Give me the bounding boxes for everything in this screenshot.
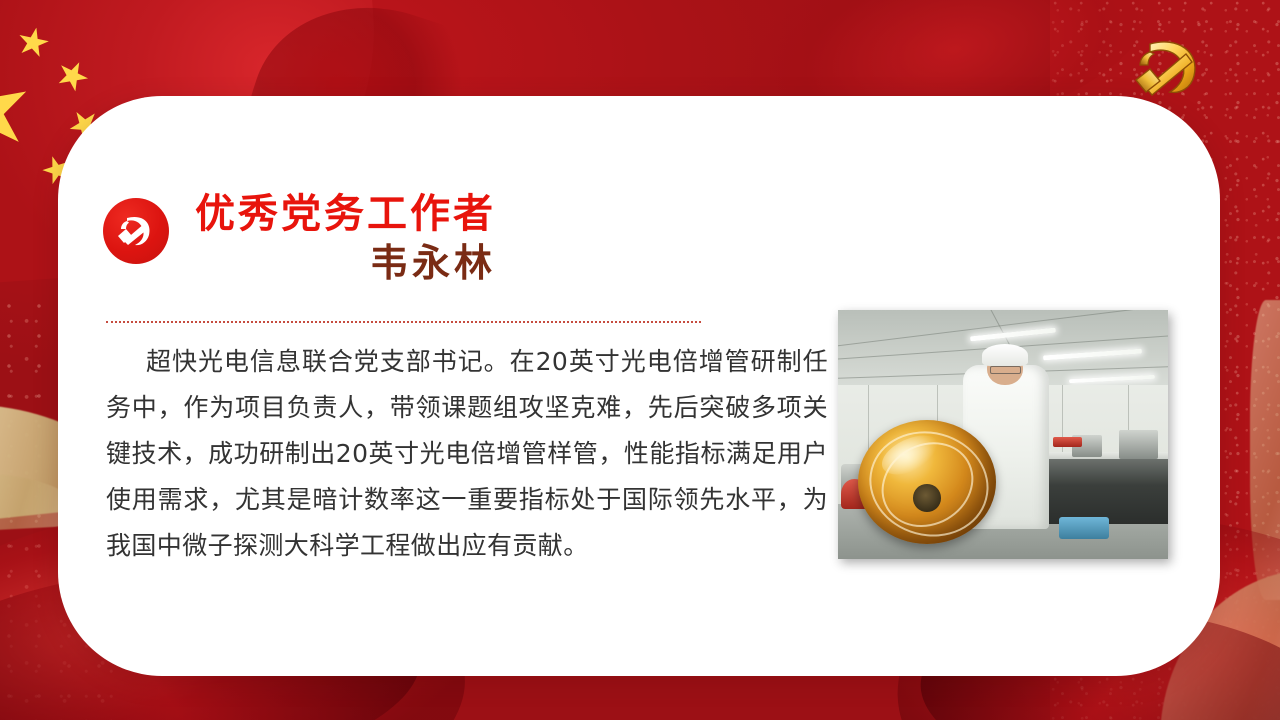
page-title: 优秀党务工作者	[195, 192, 496, 237]
gold-ribbon-right-2-icon	[1250, 300, 1280, 600]
photo-person-cap	[982, 344, 1028, 366]
header-row: 优秀党务工作者 韦永林	[103, 192, 496, 284]
flag-star-small-1	[15, 25, 51, 61]
photo-equipment-1	[1119, 430, 1159, 460]
party-emblem-gold-icon	[1120, 28, 1212, 106]
flag-star-small-2	[53, 56, 93, 96]
title-block: 优秀党务工作者 韦永林	[195, 192, 496, 284]
content-card: 优秀党务工作者 韦永林 超快光电信息联合党支部书记。在20英寸光电倍增管研制任务…	[58, 96, 1220, 676]
dotted-divider	[106, 321, 701, 323]
photo-person-glasses	[990, 366, 1022, 374]
biography-text: 超快光电信息联合党支部书记。在20英寸光电倍增管研制任务中，作为项目负责人，带领…	[106, 339, 828, 569]
photo-equipment-red	[1053, 437, 1083, 447]
photo-pmt-core	[913, 484, 941, 511]
person-photo	[838, 310, 1168, 559]
photo-scene	[838, 310, 1168, 559]
person-name: 韦永林	[195, 241, 496, 285]
flag-star-large	[0, 62, 36, 159]
photo-photomultiplier-tube	[858, 420, 997, 545]
slide-root: 优秀党务工作者 韦永林 超快光电信息联合党支部书记。在20英寸光电倍增管研制任务…	[0, 0, 1280, 720]
photo-equipment-blue-bin	[1059, 517, 1109, 539]
party-emblem-badge-icon	[103, 198, 169, 264]
